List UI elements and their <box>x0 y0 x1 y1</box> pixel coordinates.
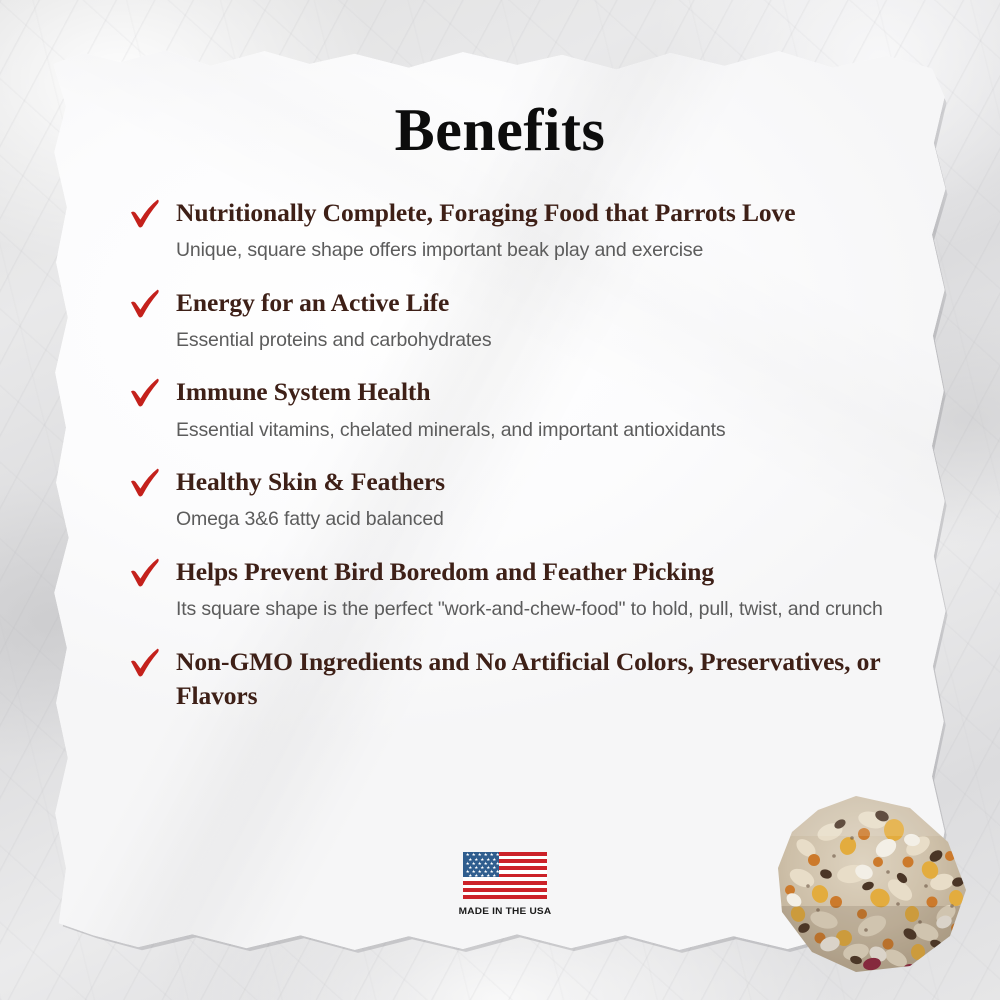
benefit-heading: Non-GMO Ingredients and No Artificial Co… <box>176 645 888 713</box>
benefit-heading: Energy for an Active Life <box>176 286 888 320</box>
made-in-usa-badge: ★★★★★★★★★★★ ★★★★★★★★★★★ ★★★★★★★★★★★ MADE… <box>459 852 551 917</box>
check-icon <box>128 376 162 408</box>
check-icon <box>128 646 162 678</box>
check-icon <box>128 466 162 498</box>
made-in-usa-caption: MADE IN THE USA <box>456 906 554 917</box>
benefit-description: Its square shape is the perfect "work-an… <box>176 594 888 626</box>
benefit-heading: Nutritionally Complete, Foraging Food th… <box>176 196 888 230</box>
benefit-description: Omega 3&6 fatty acid balanced <box>176 504 888 536</box>
benefit-item: Healthy Skin & Feathers Omega 3&6 fatty … <box>128 465 888 536</box>
benefit-description: Unique, square shape offers important be… <box>176 235 888 267</box>
benefits-infographic: Benefits Nutritionally Complete, Foragin… <box>0 0 1000 1000</box>
flag-canton: ★★★★★★★★★★★ ★★★★★★★★★★★ ★★★★★★★★★★★ <box>463 852 499 877</box>
check-icon <box>128 556 162 588</box>
benefits-list: Nutritionally Complete, Foraging Food th… <box>128 196 888 713</box>
usa-flag-icon: ★★★★★★★★★★★ ★★★★★★★★★★★ ★★★★★★★★★★★ <box>463 852 547 899</box>
benefit-item: Nutritionally Complete, Foraging Food th… <box>128 196 888 267</box>
check-icon <box>128 197 162 229</box>
page-title: Benefits <box>0 96 1000 165</box>
check-icon <box>128 287 162 319</box>
benefit-item: Energy for an Active Life Essential prot… <box>128 286 888 357</box>
bird-food-square-treat-image <box>760 786 986 982</box>
benefit-description: Essential proteins and carbohydrates <box>176 325 888 357</box>
benefit-heading: Helps Prevent Bird Boredom and Feather P… <box>176 555 888 589</box>
content-area: Benefits Nutritionally Complete, Foragin… <box>0 0 1000 1000</box>
benefit-heading: Healthy Skin & Feathers <box>176 465 888 499</box>
benefit-item: Immune System Health Essential vitamins,… <box>128 375 888 446</box>
benefit-heading: Immune System Health <box>176 375 888 409</box>
benefit-item: Helps Prevent Bird Boredom and Feather P… <box>128 555 888 626</box>
flag-stars: ★★★★★★★★★★★ ★★★★★★★★★★★ ★★★★★★★★★★★ <box>463 852 499 877</box>
benefit-description: Essential vitamins, chelated minerals, a… <box>176 415 888 447</box>
benefit-item: Non-GMO Ingredients and No Artificial Co… <box>128 645 888 713</box>
